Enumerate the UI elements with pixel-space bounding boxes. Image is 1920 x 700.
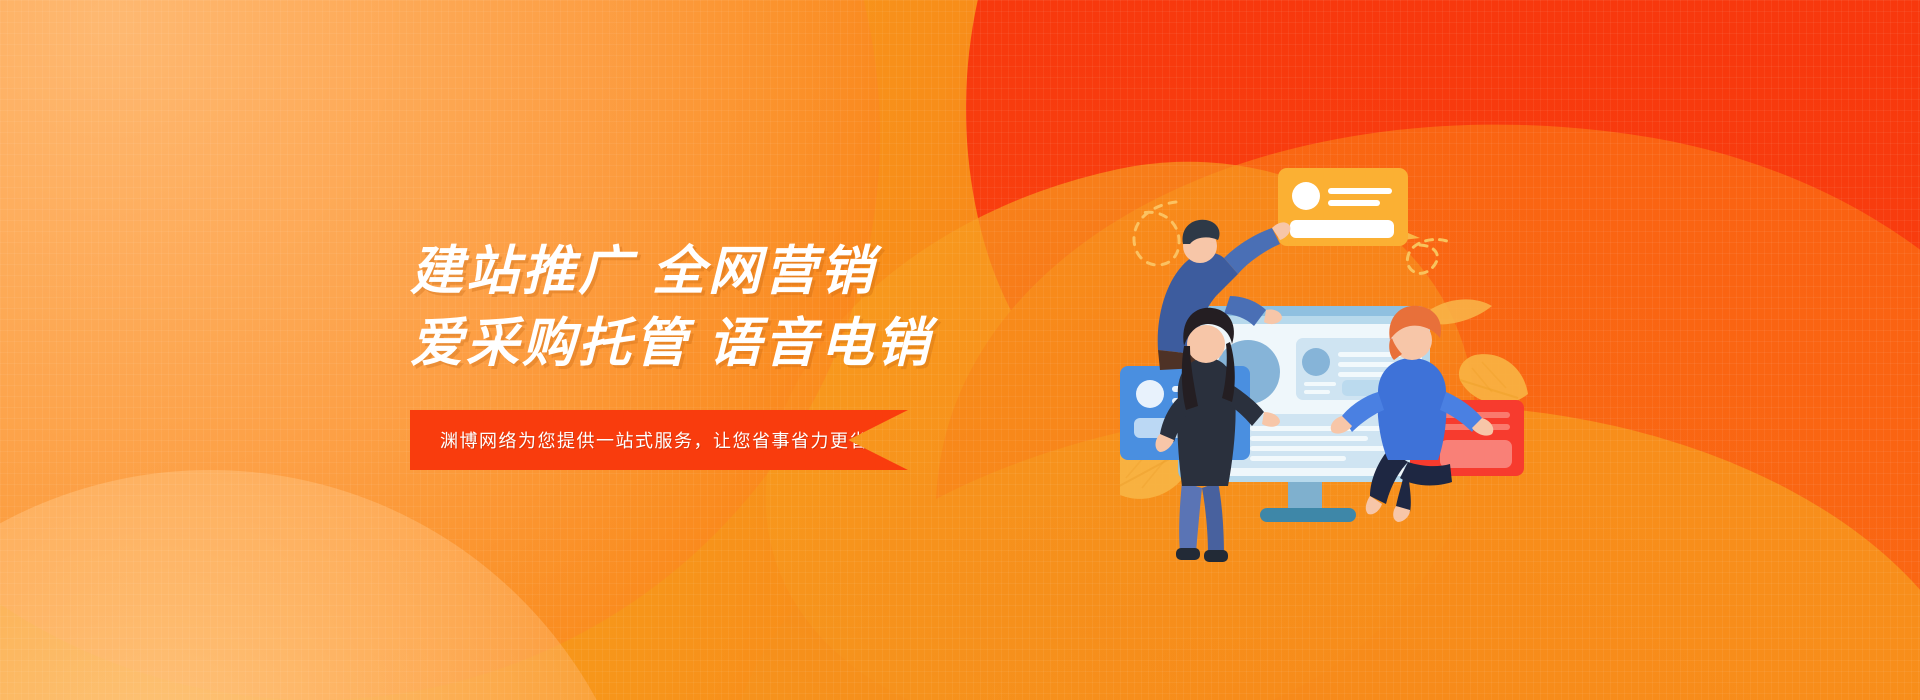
headline-line-2-part-a: 爱采购托管 bbox=[410, 314, 690, 373]
headline-line-1-part-a: 建站推广 bbox=[410, 242, 634, 301]
headline-line-1: 建站推广全网营销 bbox=[410, 236, 932, 308]
dashed-trail-icon-left bbox=[1134, 202, 1179, 265]
hero-illustration bbox=[1120, 110, 1550, 590]
dashed-trail-icon bbox=[1407, 240, 1450, 274]
headline-line-2: 爱采购托管语音电销 bbox=[410, 308, 932, 380]
background-decoration bbox=[0, 0, 1920, 700]
tagline-text: 渊博网络为您提供一站式服务，让您省事省力更省心 bbox=[440, 427, 889, 453]
promo-banner: 建站推广全网营销 爱采购托管语音电销 渊博网络为您提供一站式服务，让您省事省力更… bbox=[0, 0, 1920, 700]
tagline-ribbon: 渊博网络为您提供一站式服务，让您省事省力更省心 bbox=[410, 410, 908, 470]
yellow-profile-card bbox=[1278, 168, 1408, 246]
headline-line-2-part-b: 语音电销 bbox=[708, 314, 932, 373]
headline-block: 建站推广全网营销 爱采购托管语音电销 bbox=[410, 236, 932, 380]
headline-line-1-part-b: 全网营销 bbox=[652, 242, 876, 301]
